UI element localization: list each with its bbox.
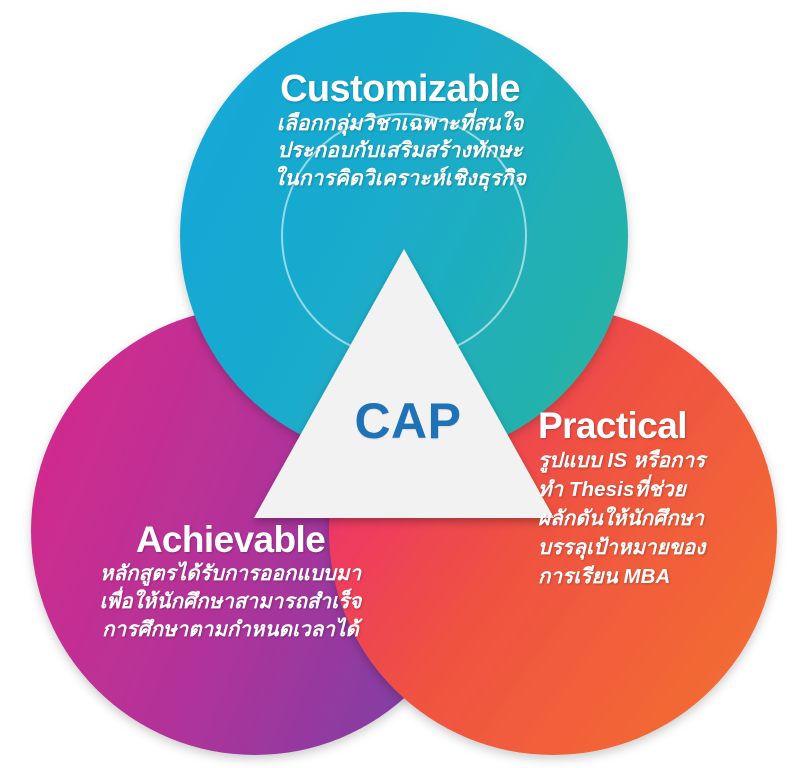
venn-diagram-svg [0, 0, 800, 768]
infographic-canvas: Customizable เลือกกลุ่มวิชาเฉพาะที่สนใจ … [0, 0, 800, 768]
